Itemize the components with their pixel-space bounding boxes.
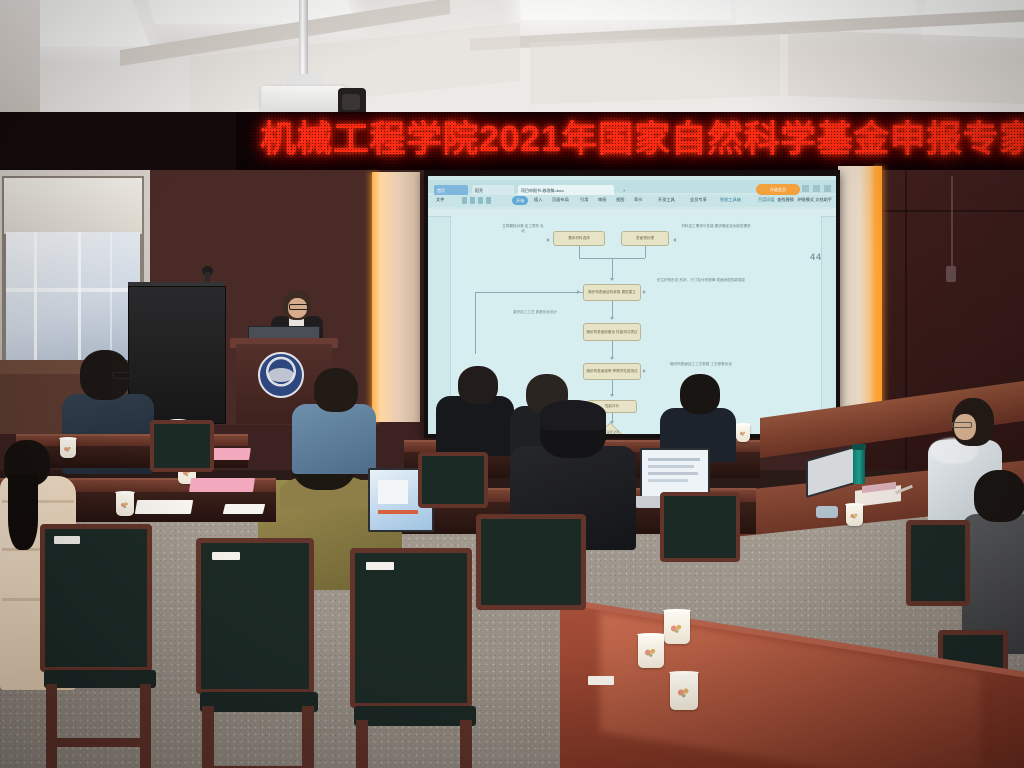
flow-connector xyxy=(612,258,613,280)
flow-arrow-icon xyxy=(610,394,614,397)
thermos-lid xyxy=(852,444,866,450)
ribbon-developer[interactable]: 开发工具 xyxy=(658,197,675,203)
chair-back xyxy=(476,514,586,610)
window-glass xyxy=(6,232,140,360)
flow-feedback-line xyxy=(475,292,583,293)
chair-back xyxy=(196,538,314,694)
flow-node-pretreatment: 表面预处理 xyxy=(621,231,669,246)
wall-cable xyxy=(951,176,953,266)
chair-leg xyxy=(202,706,214,768)
glasses-icon xyxy=(952,422,972,428)
column-accent-glow xyxy=(874,166,888,428)
laptop-screen-line xyxy=(648,458,700,461)
attendee-black-hood xyxy=(436,366,514,452)
flow-note-process-params: 激光加工工艺 参数优化设计 xyxy=(497,310,573,315)
asset-tag xyxy=(588,676,614,685)
attendee-head xyxy=(974,470,1024,522)
flow-arrow-icon xyxy=(673,238,676,242)
chair-back xyxy=(906,520,970,606)
led-pixel-grid xyxy=(236,112,1024,170)
flow-arrow-icon xyxy=(577,290,580,294)
window-mullion xyxy=(110,232,112,360)
conference-room-photo: 机械工程学院2021年国家自然科学基金申报专家评议会 首页 稻壳 项目申报书-修… xyxy=(0,0,1024,768)
white-papers xyxy=(223,504,265,514)
laptop-screen-line xyxy=(648,472,698,475)
flow-arrow-icon xyxy=(643,369,646,373)
attendee-body xyxy=(436,396,514,456)
close-icon[interactable] xyxy=(824,185,831,192)
window-transom xyxy=(6,288,140,292)
attendee-suit-right xyxy=(660,374,736,452)
ribbon-home[interactable]: 开始 xyxy=(512,196,528,205)
chair-leg xyxy=(46,684,57,768)
ribbon-file[interactable]: 文件 xyxy=(436,197,444,203)
cup-floral-pattern xyxy=(676,685,693,700)
chair-back xyxy=(660,492,740,562)
chair-back xyxy=(350,548,472,708)
asset-tag xyxy=(212,552,240,560)
chair-leg xyxy=(460,720,472,768)
laptop-screen-content xyxy=(378,480,408,504)
ribbon-member[interactable]: 会员专享 xyxy=(690,197,707,203)
paper-cup xyxy=(664,610,690,644)
chair-stretcher xyxy=(50,738,150,747)
paper-cup xyxy=(638,634,664,668)
attendee-head xyxy=(680,374,720,414)
flow-arrow-icon xyxy=(643,290,646,294)
cup-floral-pattern xyxy=(120,500,131,510)
glasses-icon xyxy=(289,304,308,310)
attendee-blue-jacket xyxy=(292,368,376,466)
chair-leg xyxy=(140,684,151,768)
page-number-badge: 44 xyxy=(810,252,822,262)
window-mullion xyxy=(34,232,37,360)
cup-floral-pattern xyxy=(849,512,859,521)
print-icon[interactable] xyxy=(486,197,491,204)
paper-cup xyxy=(670,672,698,710)
flow-note-texture-morphology: 仿生织构形态 形状、尺寸及分布规律 表面润湿性能调控 xyxy=(651,278,751,283)
window-mullion xyxy=(78,232,81,360)
flow-arrow-icon xyxy=(547,238,550,242)
laptop-screen-line xyxy=(648,479,688,482)
ceiling-light-panel xyxy=(519,0,732,20)
cup-floral-pattern xyxy=(739,430,747,437)
flow-node-source: 生物模拟对象 加工零件 毛坯 xyxy=(501,224,545,234)
wall-fixture xyxy=(946,266,956,282)
flow-arrow-icon xyxy=(610,357,614,360)
app-title-bar: 首页 稻壳 项目申报书-修改稿.docx + 升级会员 xyxy=(428,180,836,193)
ceiling xyxy=(0,0,1024,118)
maximize-icon[interactable] xyxy=(813,185,820,192)
chair-seat xyxy=(200,692,318,712)
flow-arrow-icon xyxy=(610,317,614,320)
ribbon-find-replace[interactable]: 查找替换 xyxy=(777,197,794,203)
paper-cup xyxy=(736,424,750,442)
save-icon[interactable] xyxy=(462,197,467,204)
face-mask xyxy=(816,506,838,518)
flow-connector xyxy=(579,246,580,258)
paper-cup xyxy=(846,504,863,526)
ribbon-eye-mode[interactable]: 护眼模式 xyxy=(797,197,814,203)
lit-column-left xyxy=(372,172,420,422)
chair-back xyxy=(40,524,152,672)
ribbon-review[interactable]: 审阅 xyxy=(598,197,606,203)
beanie-hat xyxy=(540,400,606,430)
flow-node-friction-test: 微织构表面减摩 摩擦学性能测试 xyxy=(583,363,641,380)
attendee-body xyxy=(292,404,376,474)
flow-note-requirements: 材料加工需求与性能 要求确定及功能性需求 xyxy=(679,224,753,229)
flow-node-base-material: 基体材料选择 xyxy=(553,231,605,246)
laptop-screen-accent xyxy=(378,510,418,514)
ribbon-insert[interactable]: 插入 xyxy=(534,197,542,203)
attendee-head xyxy=(314,368,358,412)
window-controls[interactable] xyxy=(802,185,831,192)
ribbon-smart-toolbox[interactable]: 智能工具箱 xyxy=(720,197,741,203)
projector-mount-pole xyxy=(299,0,308,78)
white-papers xyxy=(135,500,193,514)
flow-arrow-icon xyxy=(610,278,614,281)
ribbon-page-layout[interactable]: 页面布局 xyxy=(552,197,569,203)
paper-cup xyxy=(116,492,134,516)
minimize-icon[interactable] xyxy=(802,185,809,192)
ribbon-baidu-netdisk[interactable]: 百度网盘 xyxy=(758,197,775,203)
ceiling-tile xyxy=(788,30,1024,104)
asset-tag xyxy=(366,562,394,570)
attendee-gray-jacket xyxy=(962,470,1024,650)
attendee-hair xyxy=(8,474,38,550)
pink-document xyxy=(189,478,255,492)
ceiling-tile xyxy=(530,34,780,105)
cup-floral-pattern xyxy=(669,622,685,636)
thermos xyxy=(853,448,865,484)
flow-connector xyxy=(645,246,646,258)
upgrade-membership-button[interactable]: 升级会员 xyxy=(756,184,800,195)
cup-floral-pattern xyxy=(643,646,659,660)
glasses-icon xyxy=(112,372,132,379)
ribbon-reference[interactable]: 引用 xyxy=(580,197,588,203)
laptop-screen-line xyxy=(648,465,694,468)
chair-seat xyxy=(354,706,476,726)
undo-icon[interactable] xyxy=(470,197,475,204)
chair-back xyxy=(150,420,214,472)
ribbon-view[interactable]: 视图 xyxy=(616,197,624,203)
asset-tag xyxy=(54,536,80,544)
attendee-head xyxy=(458,366,498,404)
chair-back xyxy=(418,452,488,508)
chair-leg xyxy=(302,706,314,768)
ribbon-section[interactable]: 章节 xyxy=(634,197,642,203)
redo-icon[interactable] xyxy=(478,197,483,204)
flow-node-structure-model: 微织构表面结构参数 模型建立 xyxy=(583,284,641,301)
flow-feedback-line xyxy=(475,292,476,354)
led-banner: 机械工程学院2021年国家自然科学基金申报专家评议会 xyxy=(236,112,1024,170)
ribbon-doc-assistant[interactable]: 文档助手 xyxy=(815,197,832,203)
window-blind xyxy=(4,178,142,234)
flow-note-machining-params: 微织构表面加工工艺参数 工艺参数优化 xyxy=(653,362,749,367)
ceiling-wall-corner xyxy=(0,0,40,118)
chair-leg xyxy=(356,720,368,768)
flow-node-fabrication-test: 微织构表面制备及 性能测试表征 xyxy=(583,323,641,341)
